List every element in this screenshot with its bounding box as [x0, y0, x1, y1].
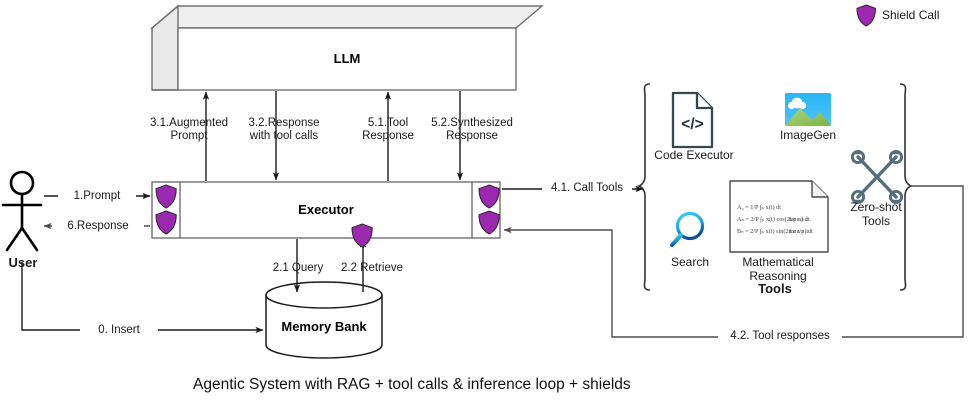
diagram-canvas: </>: [0, 0, 970, 411]
edge-label-tool-responses: 4.2. Tool responses: [718, 330, 842, 343]
shield-icon: [352, 224, 372, 247]
edge-insert-arrow: [22, 262, 263, 330]
user-stick-figure: [3, 172, 41, 250]
shield-icon: [857, 5, 875, 26]
svg-text:Bₙ = 2/P ∫ₚ x(t) sin(2π n t/p): Bₙ = 2/P ∫ₚ x(t) sin(2π n t/p) dt: [737, 228, 813, 235]
edge-label-retrieve: 2.2 Retrieve: [330, 262, 414, 275]
tool-label-code-executor: Code Executor: [650, 148, 738, 162]
tool-label-mathematical-reasoning: Mathematical Reasoning: [722, 255, 834, 283]
edge-label-response-tool-calls-line2: with tool calls: [250, 130, 318, 142]
llm-node-shape: [152, 6, 542, 90]
tool-label-math-line1: Mathematical: [742, 255, 813, 269]
svg-text:for n ≥ 1: for n ≥ 1: [789, 216, 809, 223]
edge-label-tool-response-line2: Response: [362, 130, 414, 142]
diagram-caption: Agentic System with RAG + tool calls & i…: [193, 376, 631, 394]
image-icon: [785, 93, 831, 126]
edge-label-augmented-prompt-line1: 3.1.Augmented: [150, 117, 228, 129]
tool-label-zero-shot-line2: Tools: [862, 214, 890, 228]
tool-label-imagegen: ImageGen: [770, 128, 846, 142]
crossed-wrenches-icon: [852, 151, 901, 202]
edge-label-augmented-prompt-line2: Prompt: [170, 130, 207, 142]
edge-label-tool-response-line1: 5.1.Tool: [368, 117, 408, 129]
tools-group-label: Tools: [735, 282, 815, 295]
shield-icon: [156, 185, 176, 208]
shield-icon: [156, 211, 176, 234]
shield-icon: [479, 211, 499, 234]
tool-label-zero-shot-tools: Zero-shot Tools: [840, 200, 912, 228]
code-document-icon: </>: [673, 93, 712, 147]
magnifier-icon: [672, 214, 703, 246]
legend-shield-call-label: Shield Call: [882, 9, 962, 22]
edge-label-query: 2.1 Query: [264, 262, 332, 275]
edge-label-call-tools: 4.1. Call Tools: [542, 182, 632, 195]
shield-icon: [479, 185, 499, 208]
tool-label-search: Search: [660, 255, 720, 269]
edge-label-synthesized-response: 5.2.Synthesized Response: [424, 117, 520, 143]
tool-label-zero-shot-line1: Zero-shot: [850, 200, 901, 214]
svg-text:Aₙ = 2/P ∫ₚ x(t) cos(2t/p n) d: Aₙ = 2/P ∫ₚ x(t) cos(2t/p n) dt: [737, 216, 810, 223]
edge-label-tool-response: 5.1.Tool Response: [348, 117, 428, 143]
memory-bank-node-label: Memory Bank: [266, 320, 382, 333]
svg-text:</>: </>: [681, 116, 703, 133]
edge-label-synthesized-response-line2: Response: [446, 130, 498, 142]
edge-label-prompt: 1.Prompt: [58, 190, 136, 203]
svg-text:A₀ = 1/P ∫ₚ x(t) dt: A₀ = 1/P ∫ₚ x(t) dt: [737, 204, 781, 211]
svg-text:for n ≥ 1: for n ≥ 1: [789, 228, 809, 235]
llm-node-label: LLM: [178, 52, 516, 65]
executor-node-label: Executor: [180, 203, 472, 216]
user-node-label: User: [0, 256, 46, 269]
edge-label-response-tool-calls: 3.2.Response with tool calls: [232, 117, 336, 143]
edge-label-response: 6.Response: [52, 220, 144, 233]
edge-label-insert: 0. Insert: [80, 324, 158, 337]
formula-document-icon: A₀ = 1/P ∫ₚ x(t) dt Aₙ = 2/P ∫ₚ x(t) cos…: [730, 181, 828, 252]
tool-label-math-line2: Reasoning: [749, 269, 806, 283]
edge-label-response-tool-calls-line1: 3.2.Response: [249, 117, 320, 129]
edge-label-synthesized-response-line1: 5.2.Synthesized: [431, 117, 513, 129]
edge-label-augmented-prompt: 3.1.Augmented Prompt: [141, 117, 237, 143]
